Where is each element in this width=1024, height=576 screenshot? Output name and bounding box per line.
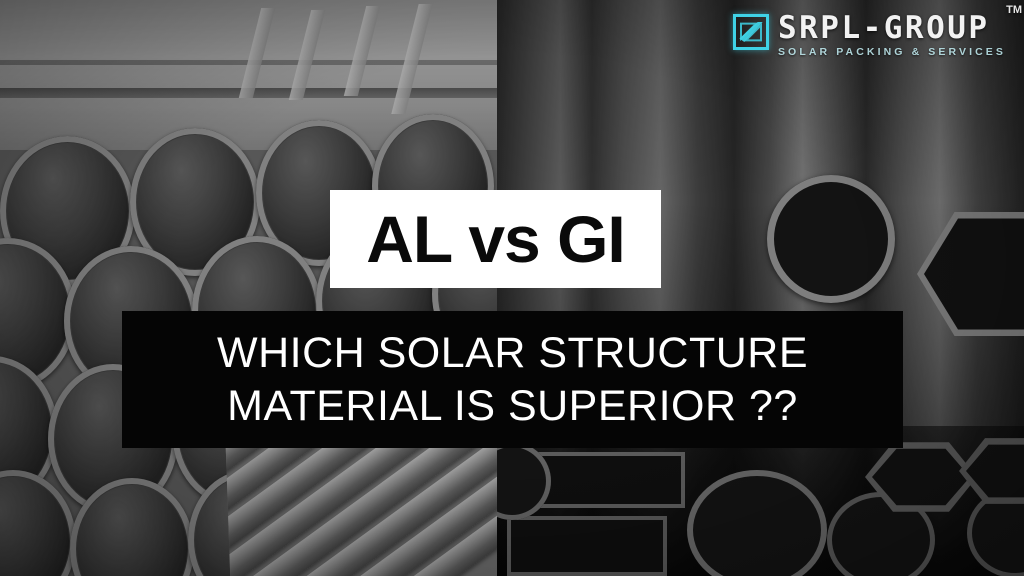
subtitle-box: WHICH SOLAR STRUCTURE MATERIAL IS SUPERI… bbox=[122, 311, 903, 448]
left-photo-gi-pipes bbox=[0, 0, 497, 576]
right-photo-aluminium-profiles bbox=[497, 0, 1024, 576]
logo-text-block: SRPL-GROUPTM SOLAR PACKING & SERVICES bbox=[778, 14, 1006, 58]
headline-box: AL vs GI bbox=[330, 190, 661, 288]
rect-profile bbox=[507, 516, 667, 576]
logo-wordmark: SRPL-GROUPTM bbox=[778, 14, 1006, 43]
subtitle-line-1: WHICH SOLAR STRUCTURE bbox=[217, 327, 808, 379]
subtitle-line-2: MATERIAL IS SUPERIOR ?? bbox=[227, 380, 798, 432]
srpl-monogram-icon bbox=[733, 14, 769, 50]
brand-logo[interactable]: SRPL-GROUPTM SOLAR PACKING & SERVICES bbox=[733, 14, 1006, 58]
promo-banner: SRPL-GROUPTM SOLAR PACKING & SERVICES AL… bbox=[0, 0, 1024, 576]
rect-profile bbox=[535, 452, 685, 508]
headline-text: AL vs GI bbox=[366, 206, 625, 272]
logo-tagline: SOLAR PACKING & SERVICES bbox=[778, 46, 1006, 58]
round-profile bbox=[767, 175, 895, 303]
trademark-symbol: TM bbox=[1006, 5, 1022, 15]
logo-wordmark-text: SRPL-GROUP bbox=[778, 10, 990, 46]
